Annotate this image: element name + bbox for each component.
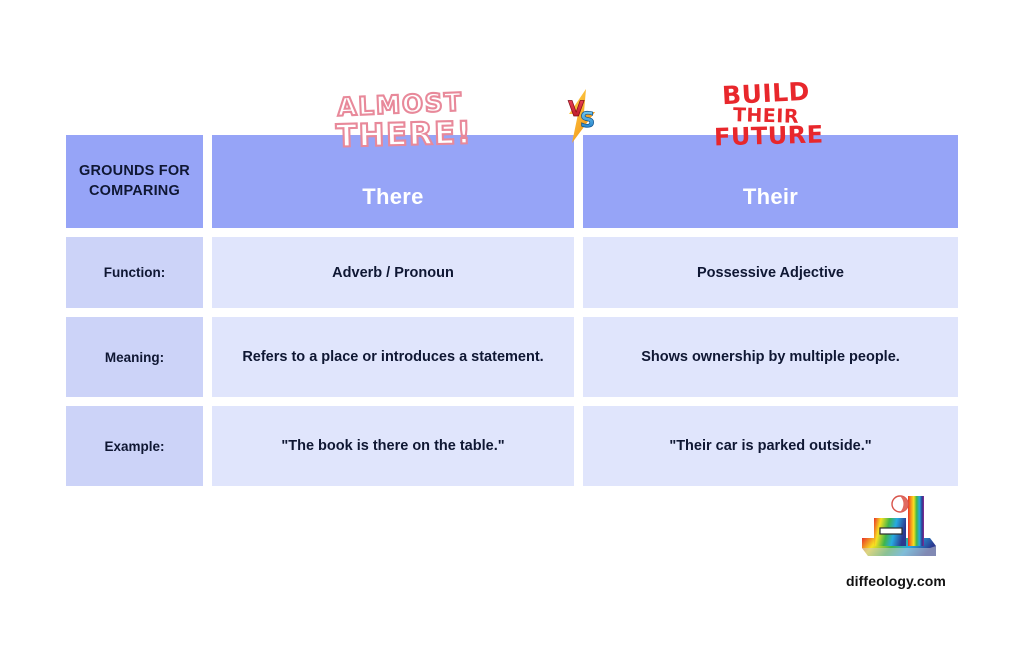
cell-their-meaning: Shows ownership by multiple people. xyxy=(583,317,958,397)
diffeology-logo-icon xyxy=(848,484,944,564)
header-cell-grounds: GROUNDS FOR COMPARING xyxy=(66,135,203,228)
row-label-text: Function: xyxy=(104,265,165,280)
cell-there-meaning: Refers to a place or introduces a statem… xyxy=(212,317,574,397)
table-row: Function: Adverb / Pronoun Possessive Ad… xyxy=(66,237,958,308)
brand-name-text: diffeology.com xyxy=(826,573,966,589)
cell-their-example: "Their car is parked outside." xyxy=(583,406,958,486)
header-there-label: There xyxy=(362,184,423,210)
row-label-meaning: Meaning: xyxy=(66,317,203,397)
cell-value-text: Adverb / Pronoun xyxy=(318,265,468,281)
cell-their-function: Possessive Adjective xyxy=(583,237,958,308)
header-there-wrap: There xyxy=(212,135,574,228)
row-label-example: Example: xyxy=(66,406,203,486)
build-future-line-1: BUILD xyxy=(713,79,818,109)
build-future-line-2: THEIR xyxy=(714,105,818,126)
table-header-row: GROUNDS FOR COMPARING There Their xyxy=(66,135,958,228)
header-grounds-label: GROUNDS FOR COMPARING xyxy=(66,162,203,201)
row-label-text: Meaning: xyxy=(105,350,164,365)
header-their-label: Their xyxy=(743,184,798,210)
row-label-text: Example: xyxy=(104,439,164,454)
table-row: Example: "The book is there on the table… xyxy=(66,406,958,486)
cell-value-text: Possessive Adjective xyxy=(683,265,858,281)
header-cell-there: There xyxy=(212,135,574,228)
cell-value-text: Shows ownership by multiple people. xyxy=(627,349,914,365)
cell-there-function: Adverb / Pronoun xyxy=(212,237,574,308)
svg-text:V: V xyxy=(568,97,585,121)
cell-there-example: "The book is there on the table." xyxy=(212,406,574,486)
infographic-canvas: GROUNDS FOR COMPARING There Their Functi… xyxy=(0,0,1024,664)
cell-value-text: "Their car is parked outside." xyxy=(655,438,885,454)
header-cell-their: Their xyxy=(583,135,958,228)
row-label-function: Function: xyxy=(66,237,203,308)
brand-block: diffeology.com xyxy=(826,484,966,589)
cell-value-text: "The book is there on the table." xyxy=(267,438,518,454)
almost-there-line-1: ALMOST xyxy=(336,89,465,120)
table-row: Meaning: Refers to a place or introduces… xyxy=(66,317,958,397)
cell-value-text: Refers to a place or introduces a statem… xyxy=(228,349,557,365)
comparison-table: GROUNDS FOR COMPARING There Their Functi… xyxy=(66,135,958,495)
header-their-wrap: Their xyxy=(583,135,958,228)
svg-text:S: S xyxy=(580,108,595,132)
